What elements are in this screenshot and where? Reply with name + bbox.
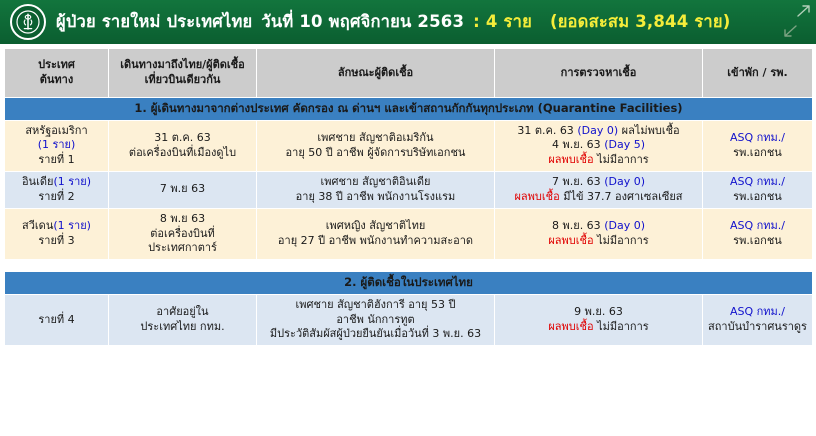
testing-line3: ผลพบเชื้อ ไม่มีอาการ bbox=[497, 320, 700, 335]
arrival-line2: ประเทศไทย กทม. bbox=[111, 320, 254, 335]
testing-symptom: มีไข้ 37.7 องศาเซลเซียส bbox=[563, 190, 682, 203]
testing-day-1: (Day 0) bbox=[604, 219, 645, 232]
testing-date-1: 7 พ.ย. 63 bbox=[552, 175, 601, 188]
cell-testing: 8 พ.ย. 63 (Day 0) ผลพบเชื้อ ไม่มีอาการ bbox=[495, 208, 703, 260]
origin-country-line: สวีเดน(1 ราย) bbox=[7, 219, 106, 234]
case-profile-line2: อายุ 50 ปี อาชีพ ผู้จัดการบริษัทเอกชน bbox=[259, 146, 492, 161]
testing-result-positive: ผลพบเชื้อ bbox=[548, 234, 593, 247]
case-profile-line2: อาชีพ นักการทูต bbox=[259, 313, 492, 328]
section-2-header-row: 2. ผู้ติดเชื้อในประเทศไทย bbox=[5, 272, 813, 295]
facility-hospital: รพ.เอกชน bbox=[705, 190, 810, 205]
column-header-arrival-line1: เดินทางมาถึงไทย/ผู้ติดเชื้อ bbox=[111, 58, 254, 73]
facility-hospital: รพ.เอกชน bbox=[705, 146, 810, 161]
case-report-table: 1. ผู้เดินทางมาจากต่างประเทศ คัดกรอง ณ ด… bbox=[4, 48, 813, 346]
case-profile-line1: เพศชาย สัญชาติอเมริกัน bbox=[259, 131, 492, 146]
cell-arrival: 7 พ.ย 63 bbox=[109, 172, 257, 209]
section-spacer bbox=[5, 260, 813, 272]
cell-arrival: 31 ต.ค. 63 ต่อเครื่องบินที่เมืองดูไบ bbox=[109, 120, 257, 172]
origin-case-count: (1 ราย) bbox=[53, 219, 91, 232]
cell-facility: ASQ กทม./ รพ.เอกชน bbox=[703, 172, 813, 209]
facility-quarantine: ASQ กทม./ bbox=[705, 131, 810, 146]
column-header-origin-country-line1: ประเทศ bbox=[7, 58, 106, 73]
table-row[interactable]: รายที่ 4 อาศัยอยู่ใน ประเทศไทย กทม. เพศช… bbox=[5, 294, 813, 346]
testing-symptom: ไม่มีอาการ bbox=[597, 153, 649, 166]
cell-case-profile: เพศชาย สัญชาติอเมริกัน อายุ 50 ปี อาชีพ … bbox=[257, 120, 495, 172]
cell-testing: 7 พ.ย. 63 (Day 0) ผลพบเชื้อ มีไข้ 37.7 อ… bbox=[495, 172, 703, 209]
section-1-title: 1. ผู้เดินทางมาจากต่างประเทศ คัดกรอง ณ ด… bbox=[5, 98, 813, 121]
section-2-title: 2. ผู้ติดเชื้อในประเทศไทย bbox=[5, 272, 813, 295]
testing-date-1: 9 พ.ย. 63 bbox=[574, 305, 623, 318]
testing-symptom: ไม่มีอาการ bbox=[597, 320, 649, 333]
report-title: ผู้ป่วย รายใหม่ ประเทศไทยวันที่ 10 พฤศจิ… bbox=[56, 14, 730, 31]
case-profile-line3: มีประวัติสัมผัสผู้ป่วยยืนยันเมื่อวันที่ … bbox=[259, 327, 492, 342]
table-row[interactable]: อินเดีย(1 ราย) รายที่ 2 7 พ.ย 63 เพศชาย … bbox=[5, 172, 813, 209]
table-row[interactable]: สวีเดน(1 ราย) รายที่ 3 8 พ.ย 63 ต่อเครื่… bbox=[5, 208, 813, 260]
testing-result-positive: ผลพบเชื้อ bbox=[548, 320, 593, 333]
testing-day-1: (Day 0) bbox=[577, 124, 618, 137]
testing-line3: ผลพบเชื้อ ไม่มีอาการ bbox=[497, 153, 700, 168]
testing-result-positive: ผลพบเชื้อ bbox=[548, 153, 593, 166]
cell-arrival: อาศัยอยู่ใน ประเทศไทย กทม. bbox=[109, 294, 257, 346]
facility-quarantine: ASQ กทม./ bbox=[705, 219, 810, 234]
facility-hospital: รพ.เอกชน bbox=[705, 234, 810, 249]
testing-result-1: ผลไม่พบเชื้อ bbox=[622, 124, 680, 137]
case-profile-line1: เพศหญิง สัญชาติไทย bbox=[259, 219, 492, 234]
testing-line1: 8 พ.ย. 63 (Day 0) bbox=[497, 219, 700, 234]
origin-case-number: รายที่ 3 bbox=[7, 234, 106, 249]
origin-country-line: อินเดีย(1 ราย) bbox=[7, 175, 106, 190]
cell-origin-country: อินเดีย(1 ราย) รายที่ 2 bbox=[5, 172, 109, 209]
title-prefix: ผู้ป่วย รายใหม่ ประเทศไทย bbox=[56, 12, 252, 31]
testing-day-2: (Day 5) bbox=[604, 138, 645, 151]
case-profile-line1: เพศชาย สัญชาติฮังการี อายุ 53 ปี bbox=[259, 298, 492, 313]
testing-line1: 9 พ.ย. 63 bbox=[497, 305, 700, 320]
slide-root: ผู้ป่วย รายใหม่ ประเทศไทยวันที่ 10 พฤศจิ… bbox=[0, 0, 816, 436]
facility-quarantine: ASQ กทม./ bbox=[705, 175, 810, 190]
testing-day-1: (Day 0) bbox=[604, 175, 645, 188]
column-header-testing: การตรวจหาเชื้อ bbox=[495, 49, 703, 98]
arrival-line1: อาศัยอยู่ใน bbox=[111, 305, 254, 320]
arrival-date: 31 ต.ค. 63 bbox=[111, 131, 254, 146]
case-profile-line2: อายุ 27 ปี อาชีพ พนักงานทำความสะอาด bbox=[259, 234, 492, 249]
cell-arrival: 8 พ.ย 63 ต่อเครื่องบินที่ ประเทศกาตาร์ bbox=[109, 208, 257, 260]
report-date: วันที่ 10 พฤศจิกายน 2563 bbox=[261, 12, 464, 31]
cell-origin-country: รายที่ 4 bbox=[5, 294, 109, 346]
case-profile-line2: อายุ 38 ปี อาชีพ พนักงานโรงแรม bbox=[259, 190, 492, 205]
column-header-case-profile: ลักษณะผู้ติดเชื้อ bbox=[257, 49, 495, 98]
testing-line1: 31 ต.ค. 63 (Day 0) ผลไม่พบเชื้อ bbox=[497, 124, 700, 139]
testing-date-2: 4 พ.ย. 63 bbox=[552, 138, 601, 151]
facility-quarantine: ASQ กทม./ bbox=[705, 305, 810, 320]
title-separator: : bbox=[473, 12, 480, 31]
cell-testing: 31 ต.ค. 63 (Day 0) ผลไม่พบเชื้อ 4 พ.ย. 6… bbox=[495, 120, 703, 172]
origin-case-number: รายที่ 2 bbox=[7, 190, 106, 205]
cell-case-profile: เพศหญิง สัญชาติไทย อายุ 27 ปี อาชีพ พนัก… bbox=[257, 208, 495, 260]
cell-case-profile: เพศชาย สัญชาติอินเดีย อายุ 38 ปี อาชีพ พ… bbox=[257, 172, 495, 209]
arrival-note-line1: ต่อเครื่องบินที่ bbox=[111, 227, 254, 242]
cell-facility: ASQ กทม./ รพ.เอกชน bbox=[703, 120, 813, 172]
arrival-note: ต่อเครื่องบินที่เมืองดูไบ bbox=[111, 146, 254, 161]
origin-case-number: รายที่ 1 bbox=[7, 153, 106, 168]
column-header-origin-country-line2: ต้นทาง bbox=[7, 73, 106, 88]
new-case-count: 4 ราย bbox=[486, 12, 532, 31]
origin-country-name: สวีเดน bbox=[22, 219, 53, 232]
origin-case-number: รายที่ 4 bbox=[7, 313, 106, 328]
cell-origin-country: สหรัฐอเมริกา (1 ราย) รายที่ 1 bbox=[5, 120, 109, 172]
testing-date-1: 31 ต.ค. 63 bbox=[517, 124, 573, 137]
cell-testing: 9 พ.ย. 63 ผลพบเชื้อ ไม่มีอาการ bbox=[495, 294, 703, 346]
arrival-date: 8 พ.ย 63 bbox=[111, 212, 254, 227]
case-profile-line1: เพศชาย สัญชาติอินเดีย bbox=[259, 175, 492, 190]
testing-line2: 4 พ.ย. 63 (Day 5) bbox=[497, 138, 700, 153]
column-header-facility: เข้าพัก / รพ. bbox=[703, 49, 813, 98]
cumulative-case-count: (ยอดสะสม 3,844 ราย) bbox=[550, 12, 731, 31]
cell-facility: ASQ กทม./ รพ.เอกชน bbox=[703, 208, 813, 260]
resize-diagonal-icon[interactable] bbox=[776, 2, 814, 42]
origin-country-name: สหรัฐอเมริกา bbox=[7, 124, 106, 139]
arrival-note-line2: ประเทศกาตาร์ bbox=[111, 241, 254, 256]
testing-line3: ผลพบเชื้อ มีไข้ 37.7 องศาเซลเซียส bbox=[497, 190, 700, 205]
origin-case-count: (1 ราย) bbox=[53, 175, 91, 188]
testing-line1: 7 พ.ย. 63 (Day 0) bbox=[497, 175, 700, 190]
section-1-header-row: 1. ผู้เดินทางมาจากต่างประเทศ คัดกรอง ณ ด… bbox=[5, 98, 813, 121]
column-header-origin-country: ประเทศ ต้นทาง bbox=[5, 49, 109, 98]
facility-hospital: สถาบันบำราศนราดูร bbox=[705, 320, 810, 335]
report-table-wrapper: 1. ผู้เดินทางมาจากต่างประเทศ คัดกรอง ณ ด… bbox=[0, 44, 816, 346]
testing-date-1: 8 พ.ย. 63 bbox=[552, 219, 601, 232]
cell-facility: ASQ กทม./ สถาบันบำราศนราดูร bbox=[703, 294, 813, 346]
arrival-date: 7 พ.ย 63 bbox=[111, 182, 254, 197]
origin-country-name: อินเดีย bbox=[22, 175, 53, 188]
table-row[interactable]: สหรัฐอเมริกา (1 ราย) รายที่ 1 31 ต.ค. 63… bbox=[5, 120, 813, 172]
cell-origin-country: สวีเดน(1 ราย) รายที่ 3 bbox=[5, 208, 109, 260]
testing-symptom: ไม่มีอาการ bbox=[597, 234, 649, 247]
column-header-arrival: เดินทางมาถึงไทย/ผู้ติดเชื้อ เที่ยวบินเดี… bbox=[109, 49, 257, 98]
column-header-arrival-line2: เที่ยวบินเดียวกัน bbox=[111, 73, 254, 88]
column-header-row: ประเทศ ต้นทาง เดินทางมาถึงไทย/ผู้ติดเชื้… bbox=[5, 49, 813, 98]
cell-case-profile: เพศชาย สัญชาติฮังการี อายุ 53 ปี อาชีพ น… bbox=[257, 294, 495, 346]
title-bar: ผู้ป่วย รายใหม่ ประเทศไทยวันที่ 10 พฤศจิ… bbox=[0, 0, 816, 44]
ministry-of-public-health-emblem-icon bbox=[10, 4, 46, 40]
testing-result-positive: ผลพบเชื้อ bbox=[514, 190, 559, 203]
testing-line3: ผลพบเชื้อ ไม่มีอาการ bbox=[497, 234, 700, 249]
origin-case-count: (1 ราย) bbox=[7, 138, 106, 153]
